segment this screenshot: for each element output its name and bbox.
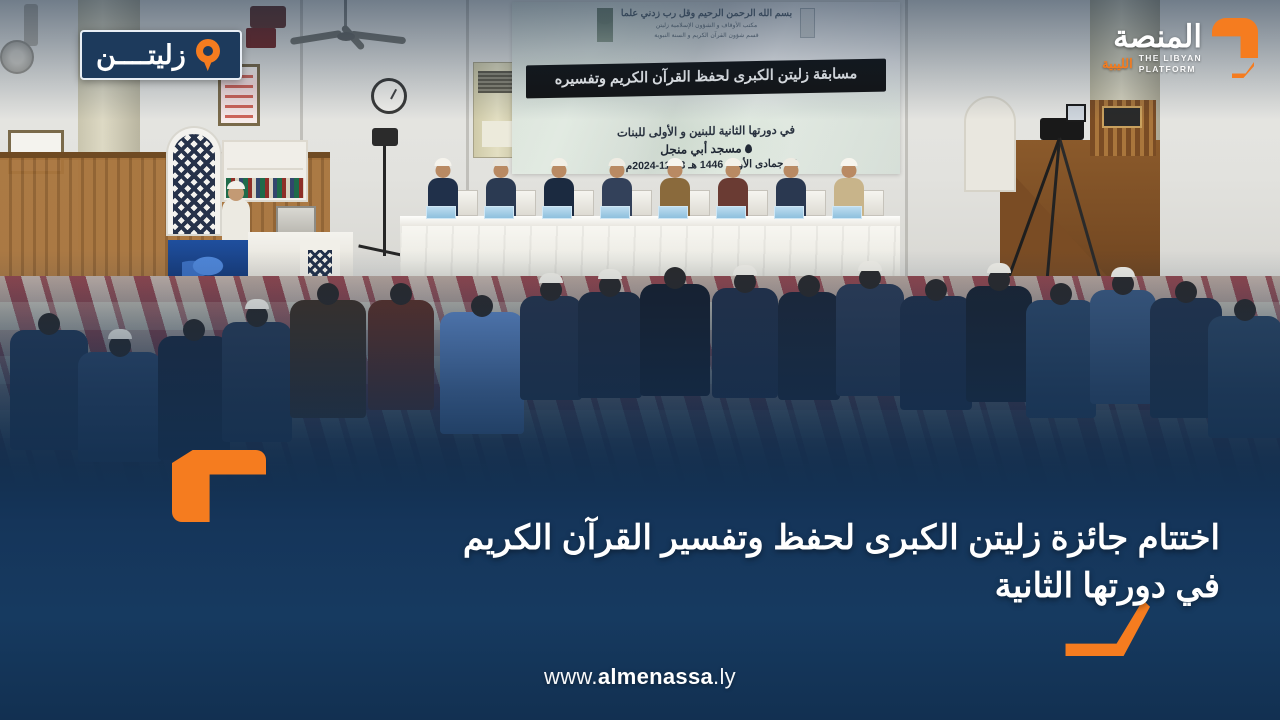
nameplate [832,206,862,219]
location-badge[interactable]: زليتــــن [80,30,242,80]
banner-subtitle: في دورتها الثانية للبنين و الأولى للبنات [512,121,900,142]
banner-pin-icon [745,144,752,153]
brand-arabic-name: المنصة [1113,22,1202,51]
nameplate [600,206,630,219]
nameplate [774,206,804,219]
nameplate [426,206,456,219]
almenassa-logo-mark-icon [1206,16,1258,80]
head-table-top [400,216,900,226]
brand-logo[interactable]: المنصة THE LIBYAN PLATFORM الليبية [1102,16,1258,80]
brand-arabic-subtitle: الليبية [1102,57,1133,70]
light-head [372,128,398,146]
url-name: almenassa [598,664,713,689]
lattice-screen [168,128,220,234]
news-card: بسم الله الرحمن الرحيم وقل رب زدني علما … [0,0,1280,720]
nameplate [716,206,746,219]
brand-english-name: THE LIBYAN PLATFORM [1139,53,1202,73]
url-tld: .ly [713,664,736,689]
headline-line-2: في دورتها الثانية [120,562,1220,610]
location-label: زليتــــن [96,42,186,69]
website-url[interactable]: www.almenassa.ly [0,664,1280,690]
map-pin-icon [196,39,220,71]
banner-date: 21 جمادى الأولى 1446 هـ 23-11-2024م [626,157,799,172]
page-title: اختتام جائزة زليتن الكبرى لحفظ وتفسير ال… [120,514,1220,611]
url-prefix: www. [544,664,598,689]
nameplate [542,206,572,219]
banner-venue: مسجد أبي منجل [660,141,741,156]
headline-line-1: اختتام جائزة زليتن الكبرى لحفظ وتفسير ال… [463,519,1220,557]
nameplate [484,206,514,219]
nameplate [658,206,688,219]
light-stand [383,146,386,256]
